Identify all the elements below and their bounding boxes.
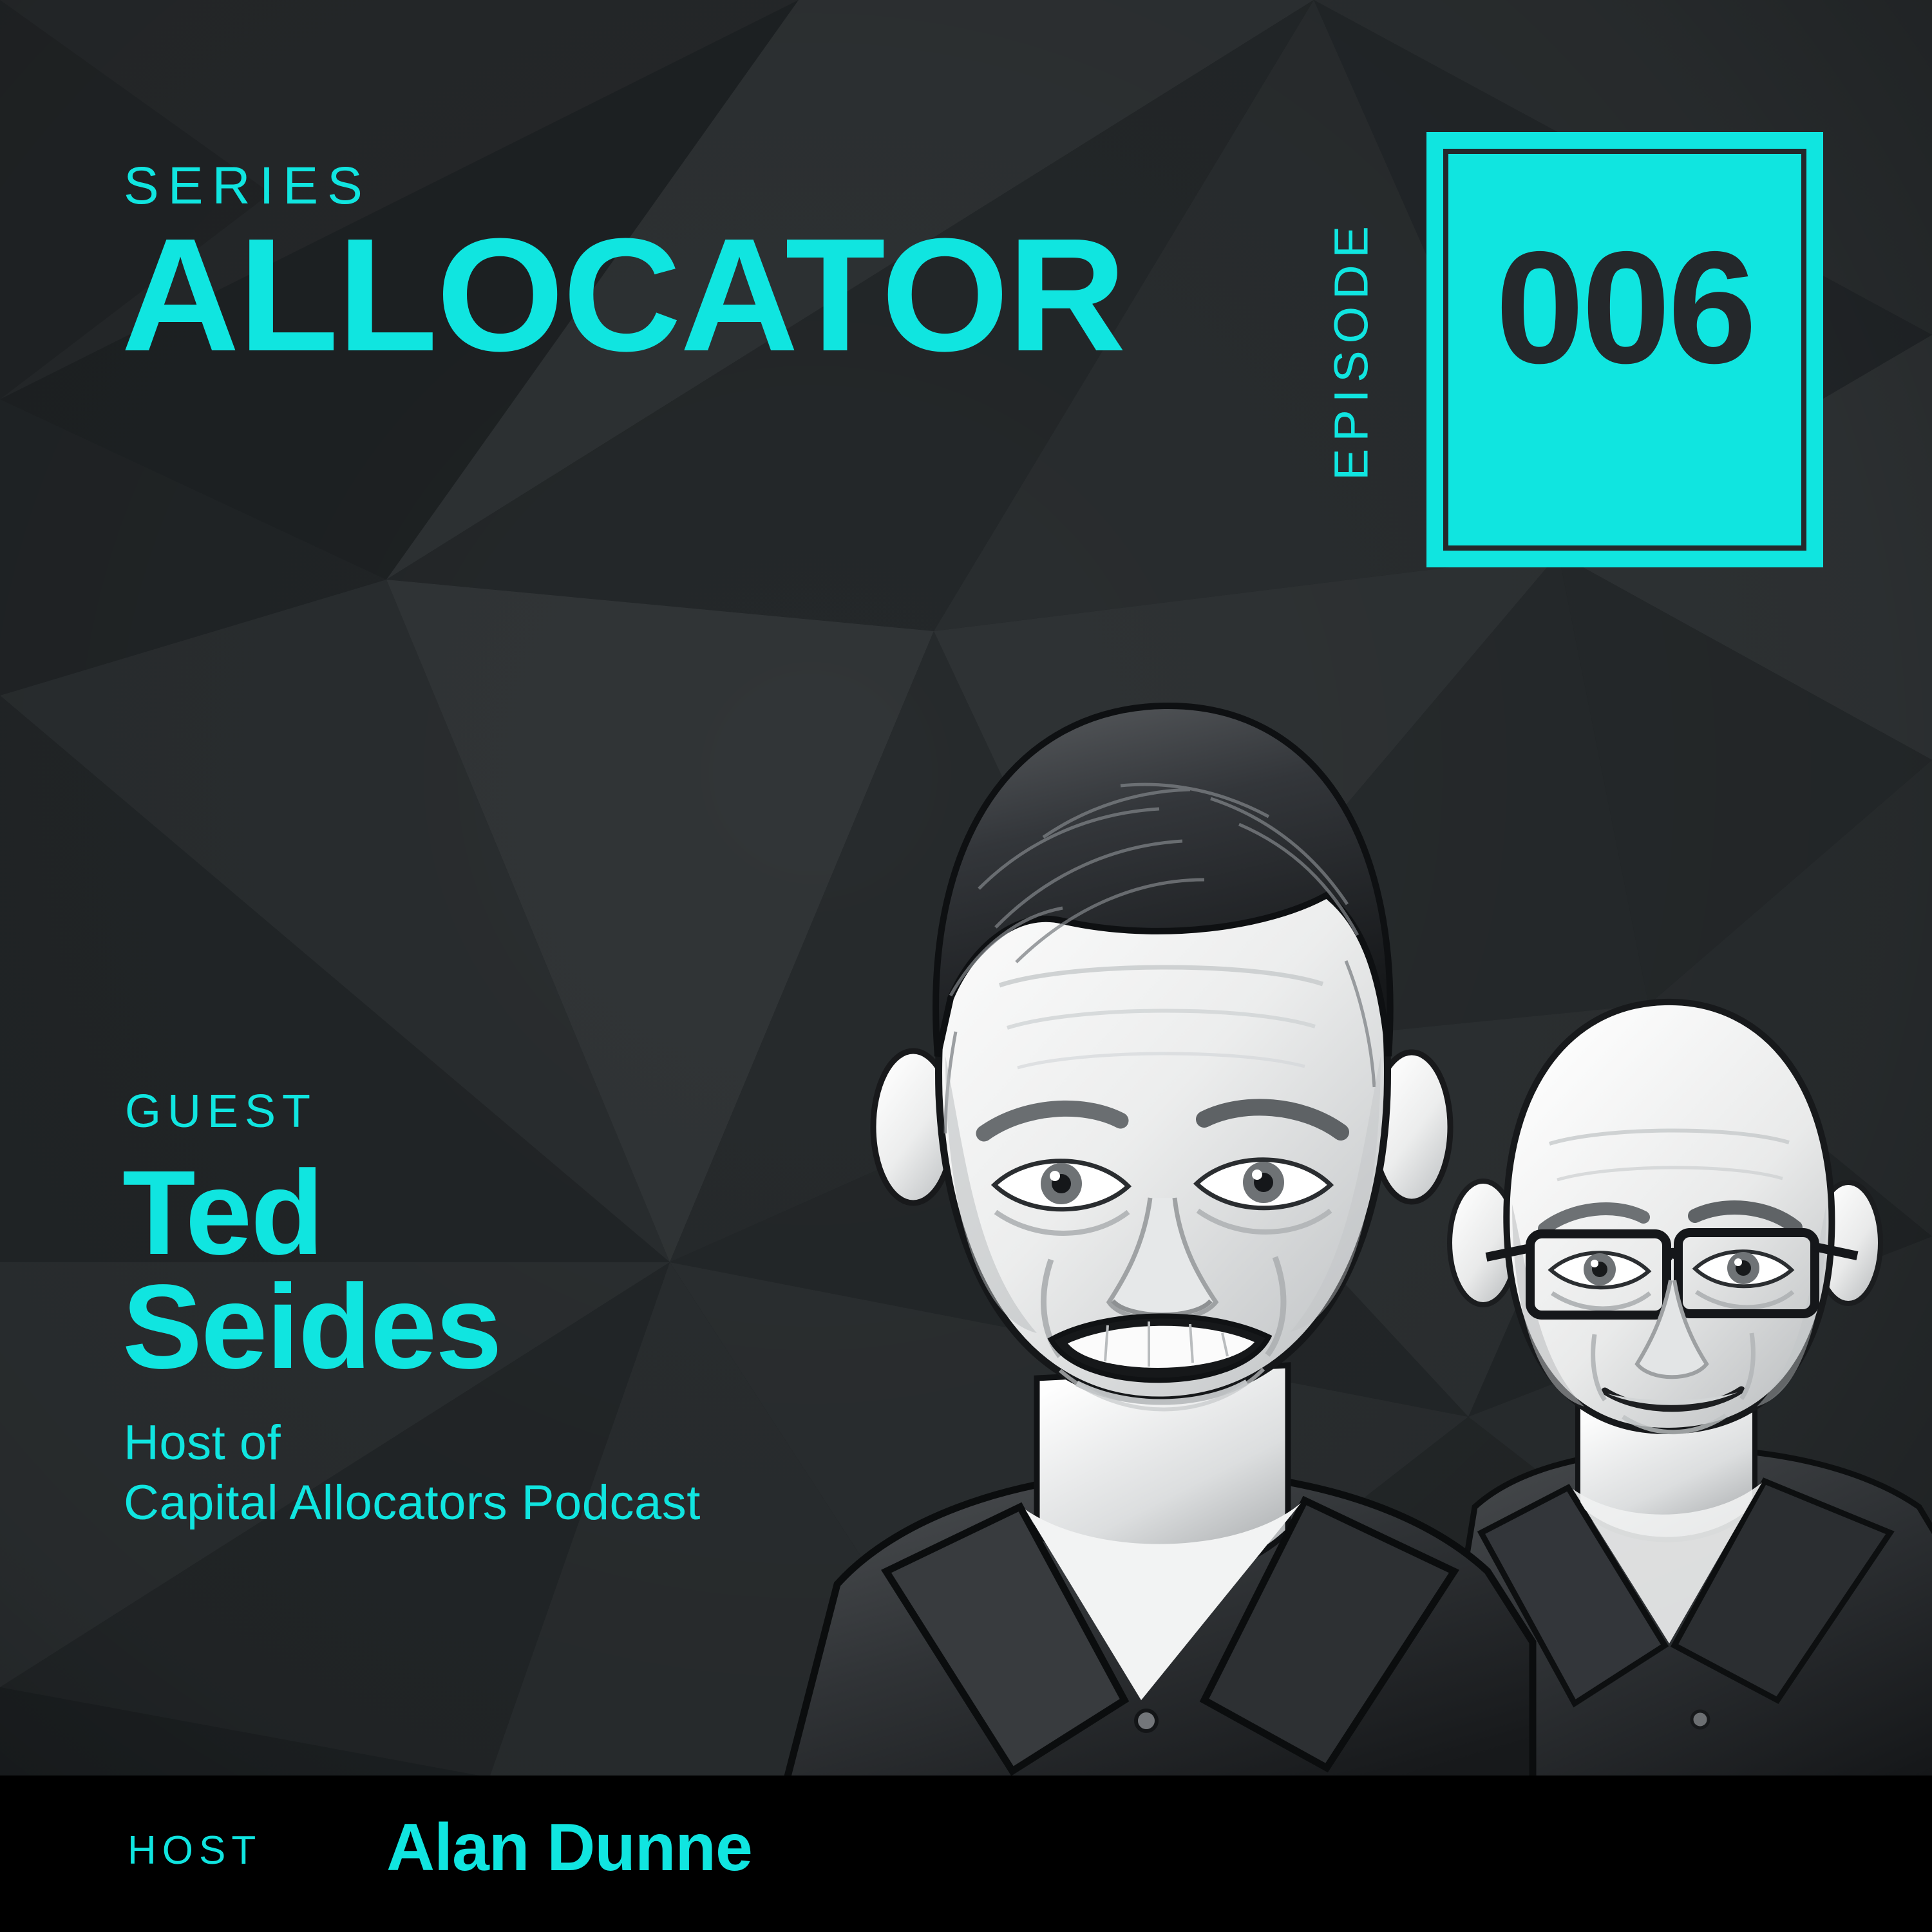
guest-role-line-2: Capital Allocators Podcast	[124, 1473, 701, 1533]
guest-kicker-label: GUEST	[125, 1088, 701, 1135]
episode-label-vertical: EPISODE	[1320, 132, 1382, 567]
host-name: Alan Dunne	[386, 1814, 752, 1881]
episode-label-text: EPISODE	[1324, 219, 1379, 480]
guest-role-line-1: Host of	[124, 1414, 701, 1473]
portrait-left-person	[786, 706, 1533, 1784]
podcast-cover-art: SERIES ALLOCATOR EPISODE 006 GUEST Ted S…	[0, 0, 1932, 1932]
guest-role: Host of Capital Allocators Podcast	[124, 1414, 701, 1533]
episode-number-badge: 006	[1426, 132, 1823, 567]
guest-name-line-1: Ted	[122, 1157, 701, 1271]
series-title: ALLOCATOR	[121, 224, 1125, 366]
series-block: SERIES ALLOCATOR	[121, 160, 1105, 366]
guest-host-portrait-illustration	[760, 477, 1932, 1784]
host-footer-bar: HOST Alan Dunne	[0, 1776, 1932, 1932]
guest-block: GUEST Ted Seides Host of Capital Allocat…	[122, 1088, 701, 1533]
guest-name-line-2: Seides	[122, 1271, 701, 1385]
episode-number: 006	[1495, 227, 1754, 387]
host-kicker-label: HOST	[128, 1831, 261, 1871]
guest-name: Ted Seides	[122, 1157, 701, 1384]
